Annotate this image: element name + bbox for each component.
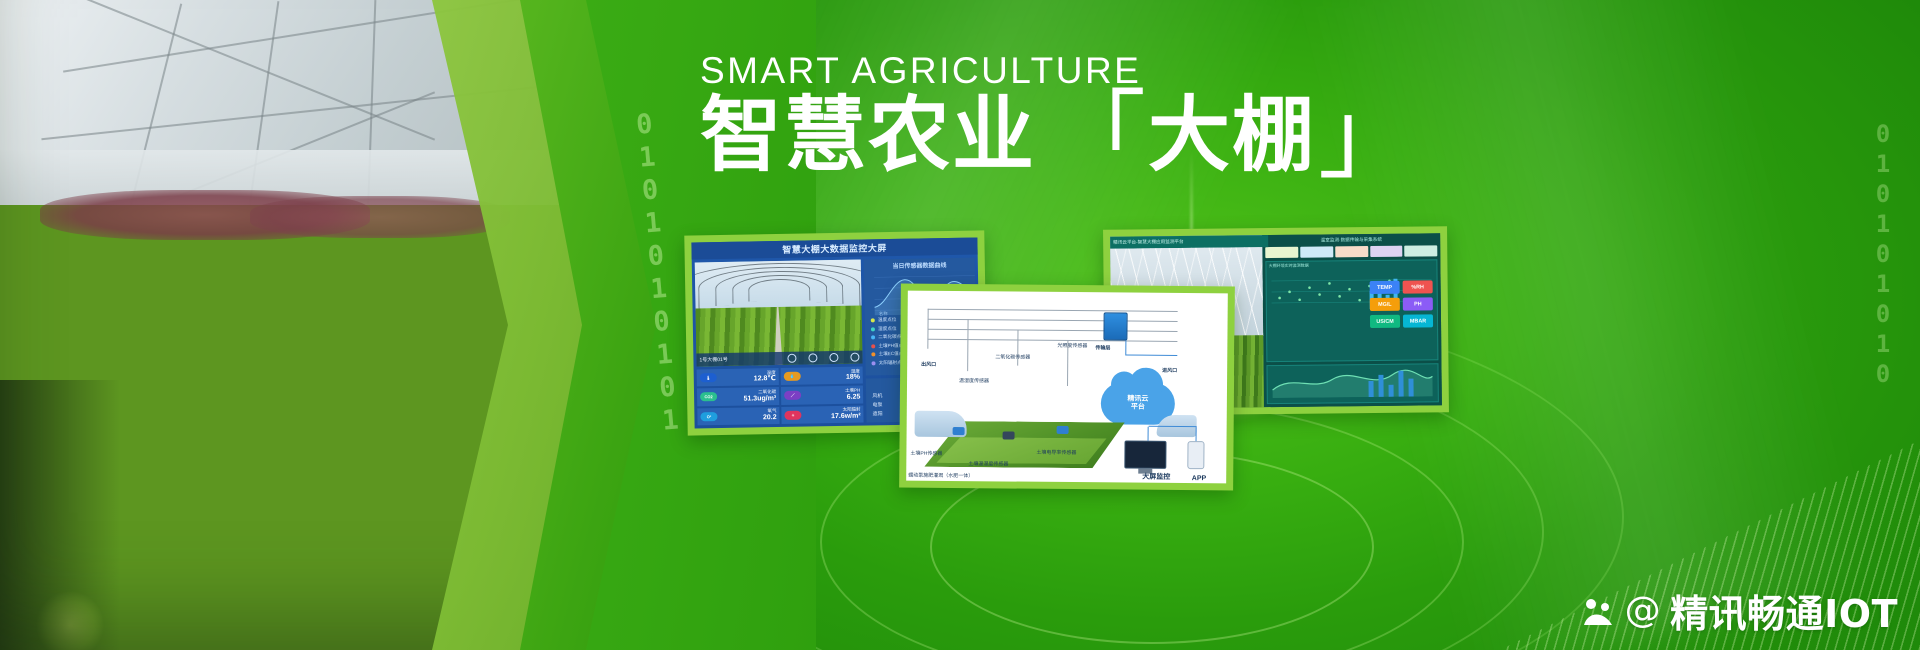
sensor-value-block: 太阳辐射 17.6w/m² <box>831 408 861 421</box>
sensor-grid: 🌡 温度 12.8℃ 💧 湿度 18% <box>697 367 864 426</box>
sensor-label: 湿度 <box>846 369 860 374</box>
jingxun-logo-icon <box>1580 594 1616 628</box>
gateway-link <box>1125 341 1126 355</box>
label-temp-humidity-sensor: 温湿度传感器 <box>959 377 989 384</box>
control-label: 遮阳 <box>873 410 883 417</box>
badge-temp: TEMP <box>1370 281 1400 294</box>
phone-device <box>1187 441 1204 469</box>
ph-probe-icon: ／ <box>784 391 801 400</box>
valve-icon[interactable] <box>809 353 818 362</box>
sensor-value-block: 氧气 20.2 <box>763 409 777 421</box>
sensor-cell-co2[interactable]: CO2 二氧化碳 51.3ug/m³ <box>697 387 779 406</box>
kpi-tile <box>1404 245 1437 256</box>
label-big-screen: 大屏监控 <box>1142 472 1170 482</box>
sensor-value: 6.25 <box>845 393 860 401</box>
output-link <box>1196 427 1197 441</box>
gateway-device <box>1103 312 1127 340</box>
sensor-cell-temperature[interactable]: 🌡 温度 12.8℃ <box>697 368 779 387</box>
sensor-cell-oxygen[interactable]: O² 氧气 20.2 <box>697 407 779 426</box>
label-co2-sensor: 二氧化碳传感器 <box>995 353 1030 360</box>
bus-line <box>928 309 1178 312</box>
platform-subheader: 温室监测·数据传输与采集系统 <box>1265 236 1437 244</box>
power-icon[interactable] <box>851 353 860 362</box>
badge-uscm: US/CM <box>1370 315 1400 328</box>
iot-topology-diagram: 传输层 精讯云 平台 二氧化碳传感器 光照度传感器 温湿度传感器 出风口 进风口… <box>906 291 1228 484</box>
soil-node <box>1057 426 1069 434</box>
sensor-value: 20.2 <box>763 414 777 422</box>
sensor-value: 51.3ug/m³ <box>743 395 776 403</box>
iot-topology-card[interactable]: 传输层 精讯云 平台 二氧化碳传感器 光照度传感器 温湿度传感器 出风口 进风口… <box>899 284 1235 491</box>
headline-title: 智慧农业 <box>700 95 1036 177</box>
sensor-value: 12.8℃ <box>754 375 776 383</box>
headline-block: SMART AGRICULTURE 智慧农业 「 大棚 」 <box>700 52 1600 177</box>
brand-name: 精讯畅通IOT <box>1670 583 1898 638</box>
output-link <box>1149 426 1197 427</box>
sensor-value-block: 土壤PH 6.25 <box>845 389 860 401</box>
bus-line <box>927 329 1177 332</box>
sensor-value: 18% <box>846 374 860 382</box>
legend-label: 温度点位 <box>878 317 896 323</box>
kpi-row <box>1266 245 1438 258</box>
monitor-device <box>1124 441 1166 469</box>
watermark: @ 精讯畅通IOT <box>1580 583 1898 638</box>
curve-title: 当日传感器数据曲线 <box>866 260 973 271</box>
transport-layer-label: 传输层 <box>1095 344 1110 351</box>
legend-dot-icon <box>871 318 875 322</box>
field-bed <box>936 437 1106 464</box>
binary-code-right: 010101010 <box>1840 120 1896 390</box>
label-light-sensor: 光照度传感器 <box>1057 342 1087 349</box>
kpi-tile <box>1335 246 1368 257</box>
kpi-tile <box>1266 247 1299 258</box>
sensor-label: 二氧化碳 <box>743 390 776 395</box>
sensor-value-block: 二氧化碳 51.3ug/m³ <box>743 390 776 403</box>
label-app: APP <box>1192 475 1206 482</box>
sensor-value-block: 温度 12.8℃ <box>754 371 776 383</box>
sensor-label: 温度 <box>754 371 776 376</box>
trend-panel <box>1267 363 1439 404</box>
bus-line <box>928 319 1178 322</box>
legend-dot-icon <box>872 352 876 356</box>
scatter-panel: 大棚环境实时监测数据 <box>1266 259 1439 362</box>
shade-icon[interactable] <box>830 353 839 362</box>
kpi-tile <box>1300 246 1333 257</box>
trend-chart <box>1268 364 1438 398</box>
sensor-value-block: 湿度 18% <box>846 369 860 381</box>
output-link <box>1148 427 1149 441</box>
humidity-drop-icon: 💧 <box>784 372 801 381</box>
bracket-left: 「 <box>1050 98 1146 177</box>
legend-dot-icon <box>872 361 876 365</box>
sensor-cell-radiation[interactable]: ☀ 太阳辐射 17.6w/m² <box>781 405 863 424</box>
legend-dot-icon <box>871 327 875 331</box>
headline-kicker: SMART AGRICULTURE <box>700 52 1600 89</box>
co2-icon: CO2 <box>700 393 717 402</box>
fan-icon[interactable] <box>788 354 797 363</box>
smart-agriculture-banner: 0101010101 010101010 SMART AGRICULTURE 智… <box>0 0 1920 650</box>
badge-ph: PH <box>1403 297 1433 310</box>
kpi-tile <box>1370 246 1403 257</box>
label-fertigation-pump: 蠕动泵施肥灌溉（水肥一体） <box>908 472 978 479</box>
sensor-label: 氧气 <box>763 409 777 414</box>
badge-mbar: MBAR <box>1403 314 1433 327</box>
badge-rh: %RH <box>1403 280 1433 293</box>
sensor-cell-soil-ph[interactable]: ／ 土壤PH 6.25 <box>781 386 863 405</box>
sun-radiation-icon: ☀ <box>784 410 801 419</box>
feed-caption-bar: 1号大棚01号 <box>696 350 862 366</box>
badge-mgl: MG/L <box>1370 298 1400 311</box>
control-label: 风机 <box>872 392 882 399</box>
headline-accent: 大棚 <box>1148 95 1316 177</box>
label-soil-ec-sensor: 土壤电导率传感器 <box>1036 449 1076 456</box>
gateway-link <box>1125 355 1177 356</box>
legend-label: 湿度点位 <box>878 325 896 331</box>
at-symbol: @ <box>1625 590 1662 631</box>
feed-caption: 1号大棚01号 <box>699 356 727 363</box>
feed-control-icons[interactable] <box>788 353 860 363</box>
headline-title-row: 智慧农业 「 大棚 」 <box>700 95 1600 177</box>
bus-line <box>927 339 1177 342</box>
drop-line <box>967 319 968 371</box>
sensor-cell-humidity[interactable]: 💧 湿度 18% <box>781 367 863 386</box>
oxygen-icon: O² <box>700 412 717 421</box>
drop-line <box>927 309 928 349</box>
live-camera-feed[interactable]: 1号大棚01号 <box>695 260 863 367</box>
label-soil-temp-humidity-sensor: 土壤温湿度传感器 <box>968 460 1008 467</box>
soil-node <box>1003 431 1015 439</box>
bracket-right: 」 <box>1318 98 1414 177</box>
platform-data-panel: 温室监测·数据传输与采集系统 大棚环境实时监测数据 <box>1262 233 1442 407</box>
logo-svg <box>1580 595 1616 629</box>
dashboard-left: 1号大棚01号 🌡 <box>695 260 864 426</box>
label-soil-ph-sensor: 土壤PH传感器 <box>910 450 942 457</box>
sensor-value: 17.6w/m² <box>831 413 861 421</box>
cloud-line1: 精讯云 <box>1127 395 1148 403</box>
soil-node <box>953 427 965 435</box>
legend-dot-icon <box>871 344 875 348</box>
legend-dot-icon <box>871 335 875 339</box>
label-air-inlet: 进风口 <box>1162 367 1177 374</box>
sensor-label: 太阳辐射 <box>831 408 861 413</box>
sensor-label: 土壤PH <box>845 389 860 394</box>
cloud-line2: 平台 <box>1131 404 1145 412</box>
label-air-outlet: 出风口 <box>921 361 936 368</box>
thermometer-icon: 🌡 <box>700 373 717 382</box>
control-label: 电泵 <box>872 401 882 408</box>
tunnel-arc <box>748 278 810 301</box>
metric-badges: TEMP %RH MG/L PH US/CM MBAR <box>1370 280 1433 328</box>
